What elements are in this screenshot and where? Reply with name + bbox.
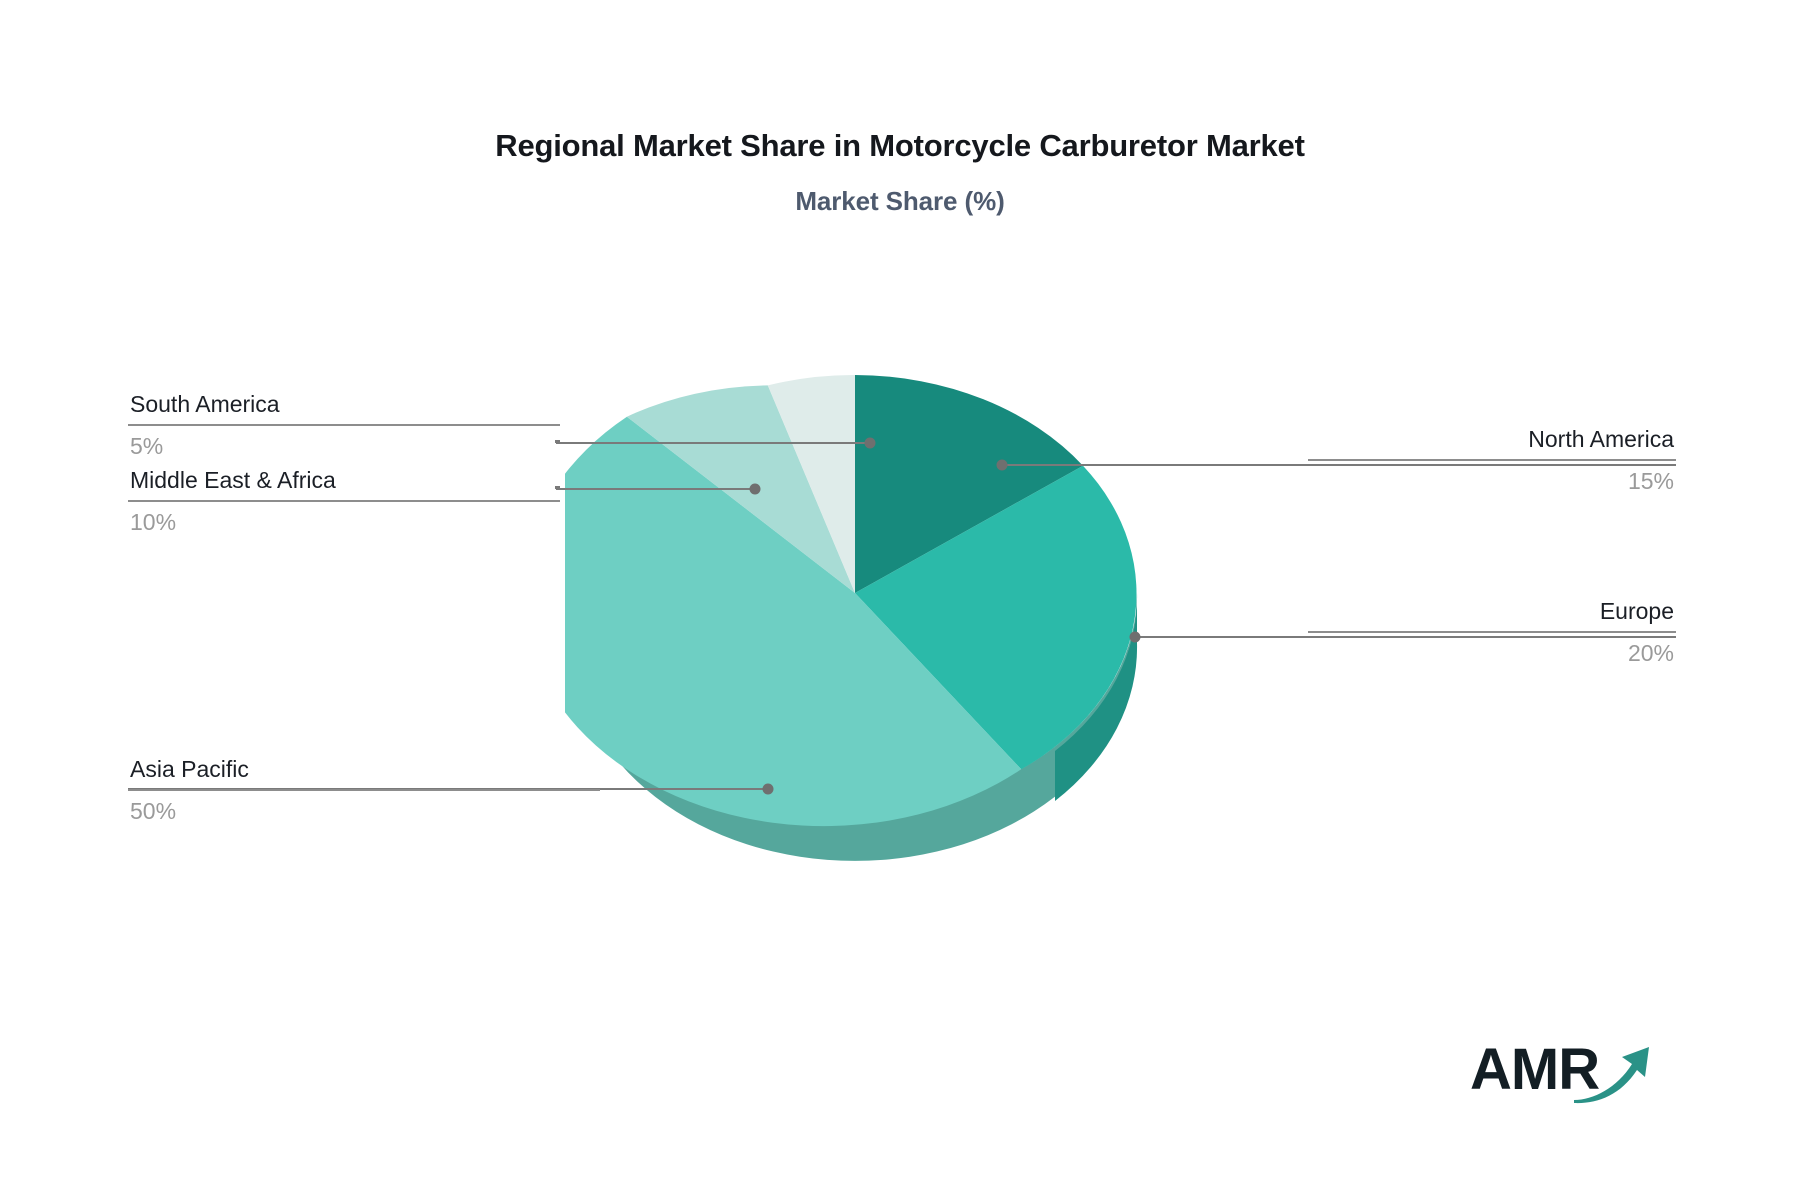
data-label-europe-value: 20% [1308,633,1676,668]
data-label-south-america-name: South America [128,390,560,424]
data-label-north-america[interactable]: North America 15% [1308,425,1676,495]
page-title: Regional Market Share in Motorcycle Carb… [0,128,1800,164]
data-label-north-america-name: North America [1308,425,1676,459]
data-label-asia-pacific[interactable]: Asia Pacific 50% [128,755,600,825]
growth-arrow-icon [1573,1038,1653,1104]
amr-logo: AMR [1470,1032,1645,1104]
chart-subtitle: Market Share (%) [0,186,1800,217]
pie-chart [565,375,1225,935]
data-label-north-america-value: 15% [1308,461,1676,496]
data-label-south-america[interactable]: South America 5% [128,390,560,460]
data-label-asia-pacific-value: 50% [128,791,600,826]
data-label-asia-pacific-name: Asia Pacific [128,755,600,789]
data-label-europe[interactable]: Europe 20% [1308,597,1676,667]
data-label-europe-name: Europe [1308,597,1676,631]
data-label-middle-east-africa-value: 10% [128,502,560,537]
chart-page: Regional Market Share in Motorcycle Carb… [0,0,1800,1196]
data-label-south-america-value: 5% [128,426,560,461]
data-label-middle-east-africa[interactable]: Middle East & Africa 10% [128,466,560,536]
data-label-middle-east-africa-name: Middle East & Africa [128,466,560,500]
